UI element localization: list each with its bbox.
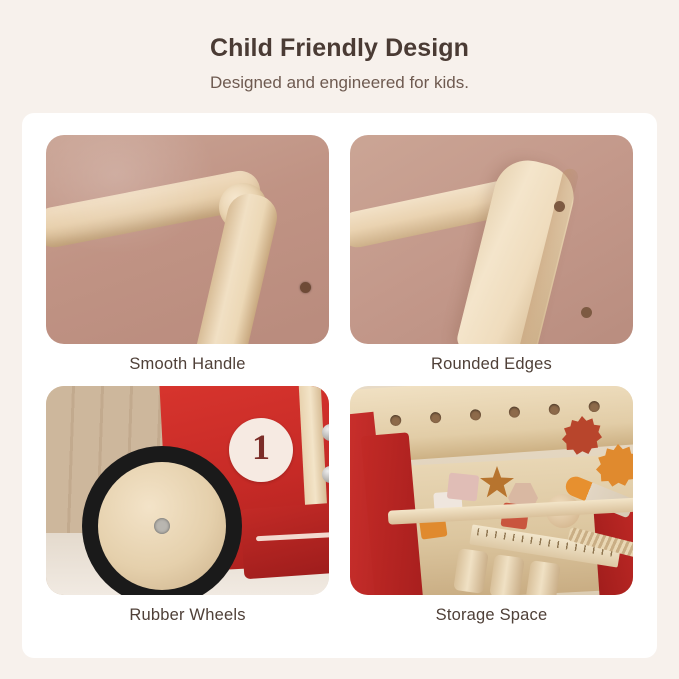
screw-icon (554, 201, 565, 212)
walker-body-lower (240, 503, 329, 580)
rounded-edges-photo (350, 135, 633, 344)
feature-item-rounded-edges: Rounded Edges (350, 135, 633, 374)
rubber-wheels-photo: 1 (46, 386, 329, 595)
number-badge: 1 (229, 418, 293, 482)
page-subtitle: Designed and engineered for kids. (0, 73, 679, 93)
feature-caption: Storage Space (350, 606, 633, 625)
dowel-icon (453, 548, 489, 594)
smooth-handle-photo (46, 135, 329, 344)
dowel-icon (525, 560, 561, 595)
wheel-cap-icon (154, 518, 170, 534)
feature-item-rubber-wheels: 1 Rubber Wheels (46, 386, 329, 625)
screw-icon (300, 282, 311, 293)
peg-hole-icon (588, 401, 600, 413)
block-pink (447, 473, 480, 502)
peg-hole-icon (549, 403, 561, 415)
peg-hole-icon (430, 412, 442, 424)
feature-item-smooth-handle: Smooth Handle (46, 135, 329, 374)
feature-grid: Smooth Handle Rounded Edges (46, 135, 633, 625)
photo-highlight (46, 135, 216, 255)
feature-card: Smooth Handle Rounded Edges (22, 113, 657, 658)
feature-caption: Rubber Wheels (46, 606, 329, 625)
product-feature-page: Child Friendly Design Designed and engin… (0, 0, 679, 679)
peg-hole-icon (509, 406, 521, 418)
feature-item-storage-space: Storage Space (350, 386, 633, 625)
peg-hole-icon (390, 415, 402, 427)
badge-number: 1 (229, 426, 293, 468)
dowel-icon (489, 554, 525, 595)
page-header: Child Friendly Design Designed and engin… (0, 0, 679, 93)
peg-hole-icon (469, 409, 481, 421)
page-title: Child Friendly Design (0, 34, 679, 63)
storage-space-photo (350, 386, 633, 595)
feature-caption: Rounded Edges (350, 355, 633, 374)
screw-icon (581, 307, 592, 318)
feature-caption: Smooth Handle (46, 355, 329, 374)
